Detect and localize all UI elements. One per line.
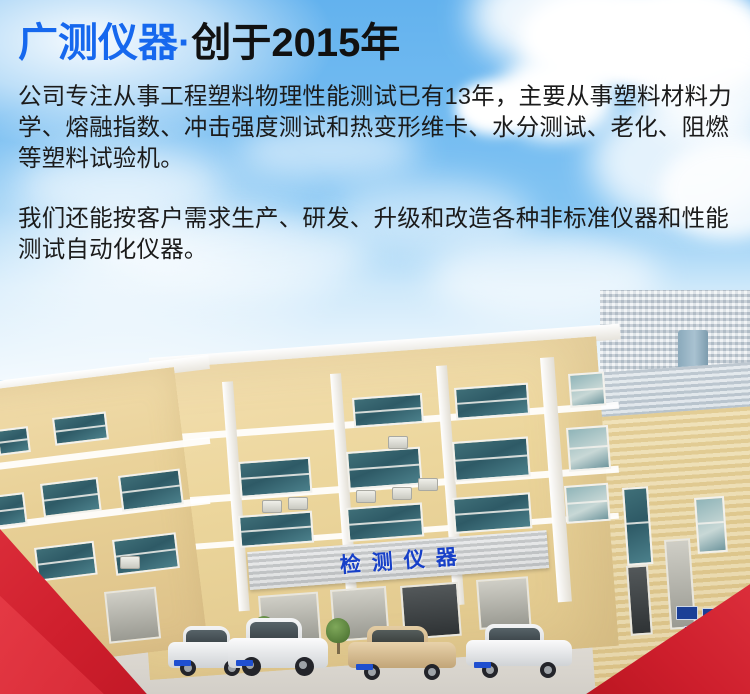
banner-title: 广测仪器·创于2015年 (18, 22, 734, 65)
shrub (326, 618, 350, 643)
air-conditioner-unit (388, 436, 408, 449)
parked-car-gold-sedan (348, 626, 456, 676)
air-conditioner-unit (288, 497, 308, 510)
intro-paragraph-2: 我们还能按客户需求生产、研发、升级和改造各种非标准仪器和性能测试自动化仪器。 (18, 203, 734, 265)
air-conditioner-unit (262, 500, 282, 513)
air-conditioner-unit (356, 490, 376, 503)
title-separator: · (178, 21, 191, 65)
company-intro-banner: 检测仪器 (0, 0, 750, 694)
parked-car-white-suv (228, 618, 328, 672)
title-founded: 创于2015年 (191, 21, 400, 65)
air-conditioner-unit (392, 487, 412, 500)
brand-name: 广测仪器 (18, 21, 178, 65)
banner-copy: 广测仪器·创于2015年 公司专注从事工程塑料物理性能测试已有13年，主要从事塑… (18, 22, 734, 265)
intro-paragraph-1: 公司专注从事工程塑料物理性能测试已有13年，主要从事塑料材料力学、熔融指数、冲击… (18, 81, 734, 174)
air-conditioner-unit (418, 478, 438, 491)
air-conditioner-unit (120, 556, 140, 569)
parked-car-white-sedan-2 (466, 624, 572, 674)
building-sign-text: 检测仪器 (328, 540, 469, 580)
